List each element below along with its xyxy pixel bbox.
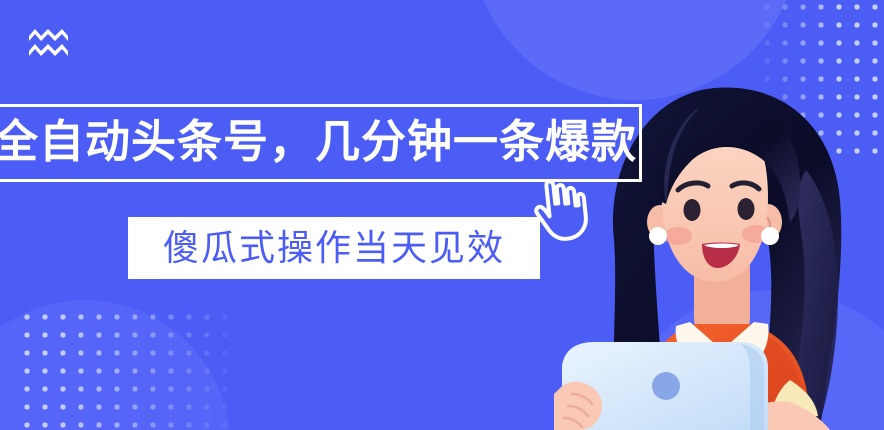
headline-text: 全自动头条号，几分钟一条爆款 — [0, 120, 637, 167]
subtitle-text: 傻瓜式操作当天见效 — [163, 230, 505, 266]
promotional-banner: 全自动头条号，几分钟一条爆款 傻瓜式操作当天见效 — [0, 0, 884, 430]
pointing-hand-cursor-icon — [530, 174, 595, 246]
dot-grid-bottom-left — [14, 304, 244, 430]
headline-box: 全自动头条号，几分钟一条爆款 — [0, 104, 642, 182]
subtitle-box: 傻瓜式操作当天见效 — [128, 217, 540, 279]
wave-zigzag-icon — [28, 26, 70, 62]
